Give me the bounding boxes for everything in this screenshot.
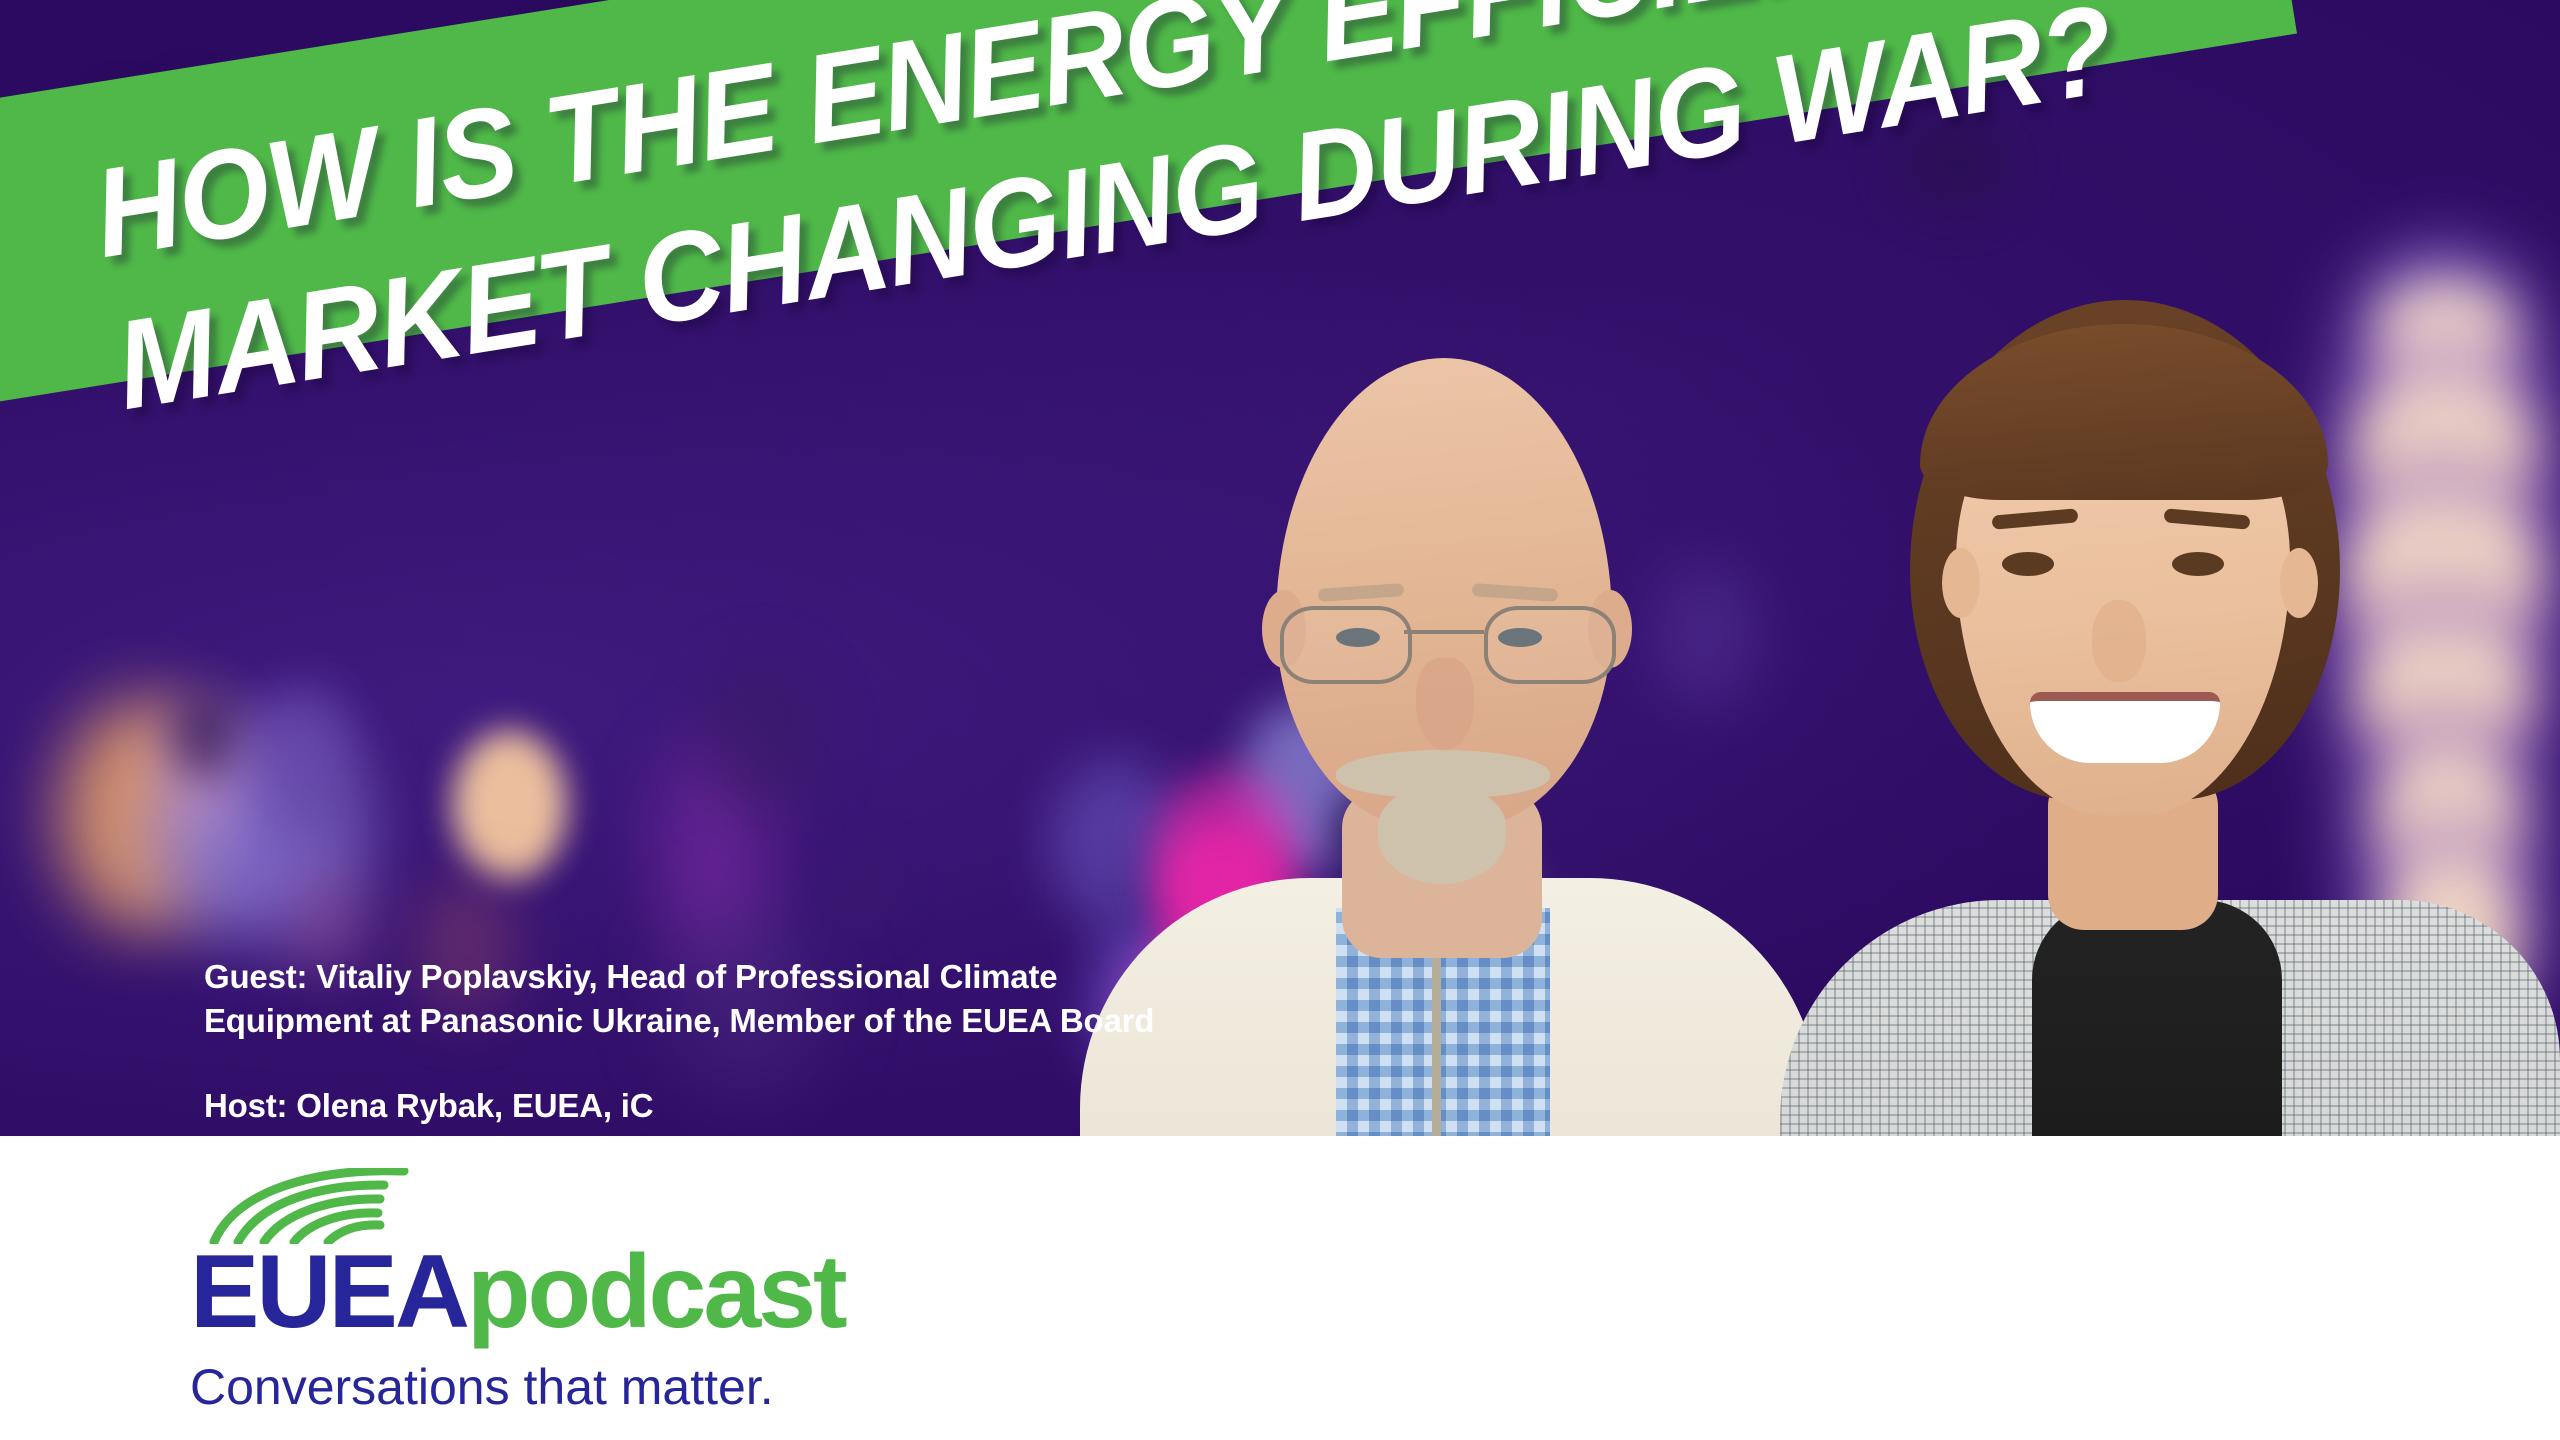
host-smile	[2030, 692, 2220, 763]
podcast-cover-poster: HOW IS THE ENERGY EFFICIENCY MARKET CHAN…	[0, 0, 2560, 1440]
guest-lens-left	[1280, 606, 1412, 684]
guest-eyeglasses	[1276, 606, 1612, 680]
credits-block: Guest: Vitaliy Poplavskiy, Head of Profe…	[204, 955, 1224, 1125]
bokeh-light	[1900, 120, 2010, 210]
bokeh-light	[452, 730, 567, 880]
guest-lens-right	[1484, 606, 1616, 684]
bokeh-light	[255, 692, 345, 822]
bokeh-light	[170, 690, 240, 780]
guest-goatee	[1378, 788, 1506, 884]
bokeh-light	[270, 690, 340, 790]
wheat-swoosh-icon	[208, 1168, 548, 1244]
bokeh-light	[150, 740, 365, 940]
guest-credit-line: Guest: Vitaliy Poplavskiy, Head of Profe…	[204, 955, 1224, 1043]
bokeh-light	[262, 718, 362, 858]
logo-euea-text: EUEA	[190, 1234, 467, 1350]
euea-podcast-logo[interactable]: EUEApodcast Conversations that matter.	[190, 1168, 870, 1416]
host-eye-right	[2172, 552, 2224, 576]
host-eye-left	[2002, 552, 2054, 576]
host-ear-left	[1942, 548, 1980, 618]
bokeh-light	[60, 700, 230, 930]
logo-podcast-text: podcast	[467, 1234, 845, 1350]
logo-wordmark: EUEApodcast	[190, 1240, 870, 1344]
host-credit-line: Host: Olena Rybak, EUEA, iC	[204, 1087, 1224, 1125]
guest-glasses-bridge	[1404, 630, 1484, 634]
logo-tagline: Conversations that matter.	[190, 1358, 870, 1416]
host-ear-right	[2280, 548, 2318, 618]
bokeh-light	[160, 700, 250, 820]
bokeh-light	[660, 740, 770, 970]
host-nose	[2092, 600, 2146, 682]
host-hair-front	[1920, 324, 2328, 500]
bokeh-light	[836, 850, 891, 930]
bokeh-light	[700, 660, 820, 820]
